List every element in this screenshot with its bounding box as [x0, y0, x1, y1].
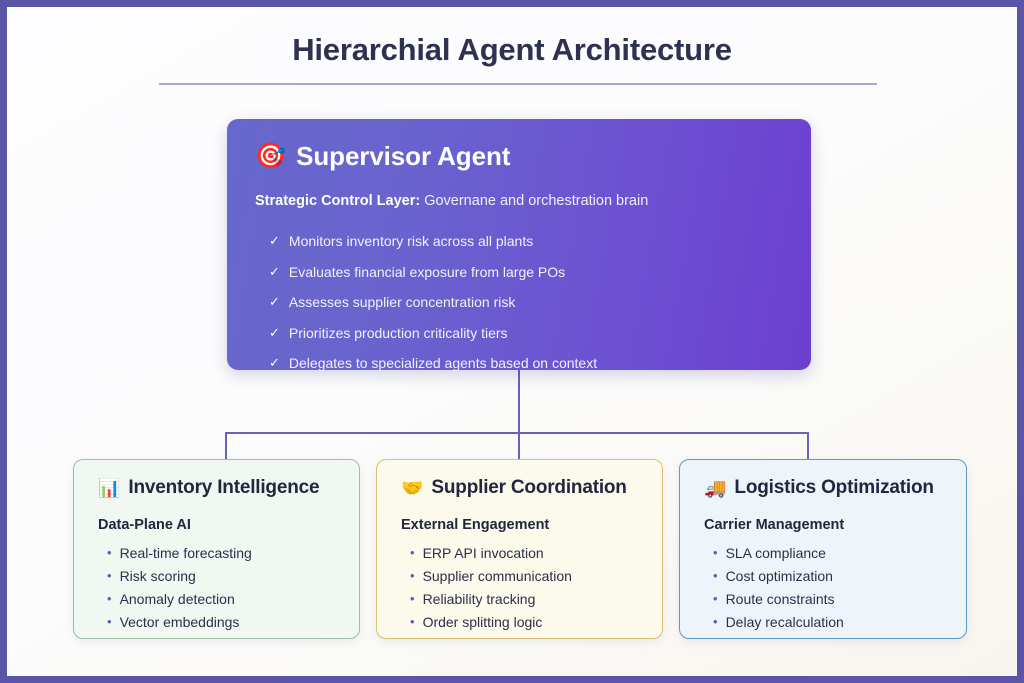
title-divider	[159, 83, 877, 85]
supervisor-subtitle-lead: Strategic Control Layer:	[255, 193, 420, 209]
bullet-dot-icon: •	[107, 567, 112, 584]
handshake-icon: 🤝	[401, 479, 423, 497]
bullet-dot-icon: •	[410, 544, 415, 561]
delivery-truck-icon: 🚚	[704, 479, 726, 497]
list-item-label: Delegates to specialized agents based on…	[289, 355, 597, 373]
list-item: • Order splitting logic	[401, 611, 642, 634]
diagram-frame: Hierarchial Agent Architecture 🎯 Supervi…	[0, 0, 1024, 683]
list-item: ✓ Assesses supplier concentration risk	[255, 288, 783, 319]
list-item: ✓ Monitors inventory risk across all pla…	[255, 227, 783, 258]
list-item: • Supplier communication	[401, 565, 642, 588]
supervisor-heading: 🎯 Supervisor Agent	[255, 141, 783, 172]
list-item: • Vector embeddings	[98, 611, 339, 634]
bullet-dot-icon: •	[410, 567, 415, 584]
list-item: • Anomaly detection	[98, 588, 339, 611]
card-subtitle: External Engagement	[401, 517, 642, 533]
bullet-dot-icon: •	[713, 544, 718, 561]
check-icon: ✓	[269, 233, 280, 249]
bullet-dot-icon: •	[107, 544, 112, 561]
check-icon: ✓	[269, 264, 280, 280]
bullet-dot-icon: •	[410, 613, 415, 630]
card-feature-list: • ERP API invocation • Supplier communic…	[401, 542, 642, 633]
card-title: Logistics Optimization	[734, 477, 933, 499]
list-item: • ERP API invocation	[401, 542, 642, 565]
list-item-label: SLA compliance	[726, 544, 826, 562]
list-item: • Risk scoring	[98, 565, 339, 588]
list-item-label: Route constraints	[726, 590, 835, 608]
inventory-intelligence-node[interactable]: 📊 Inventory Intelligence Data-Plane AI •…	[73, 459, 360, 639]
card-heading: 📊 Inventory Intelligence	[98, 477, 339, 499]
card-feature-list: • SLA compliance • Cost optimization • R…	[704, 542, 946, 633]
list-item: • Cost optimization	[704, 565, 946, 588]
list-item-label: Monitors inventory risk across all plant…	[289, 233, 533, 251]
card-heading: 🚚 Logistics Optimization	[704, 477, 946, 499]
list-item-label: Reliability tracking	[423, 590, 536, 608]
list-item: • Route constraints	[704, 588, 946, 611]
diagram-canvas: Hierarchial Agent Architecture 🎯 Supervi…	[7, 7, 1017, 676]
supervisor-capability-list: ✓ Monitors inventory risk across all pla…	[255, 227, 783, 380]
bar-chart-icon: 📊	[98, 479, 120, 497]
bullet-dot-icon: •	[713, 613, 718, 630]
card-title: Supplier Coordination	[431, 477, 626, 499]
list-item-label: Risk scoring	[120, 567, 196, 585]
list-item-label: Supplier communication	[423, 567, 572, 585]
logistics-optimization-node[interactable]: 🚚 Logistics Optimization Carrier Managem…	[679, 459, 967, 639]
card-subtitle: Carrier Management	[704, 517, 946, 533]
connector-drop-supplier	[518, 432, 520, 460]
bullet-dot-icon: •	[713, 590, 718, 607]
connector-drop-logistics	[807, 432, 809, 460]
bullet-dot-icon: •	[107, 590, 112, 607]
supplier-coordination-node[interactable]: 🤝 Supplier Coordination External Engagem…	[376, 459, 663, 639]
supervisor-agent-node[interactable]: 🎯 Supervisor Agent Strategic Control Lay…	[227, 119, 811, 370]
page-title: Hierarchial Agent Architecture	[7, 33, 1017, 67]
check-icon: ✓	[269, 294, 280, 310]
list-item-label: ERP API invocation	[423, 544, 544, 562]
bullet-dot-icon: •	[713, 567, 718, 584]
connector-trunk-vertical	[518, 370, 520, 433]
list-item-label: Vector embeddings	[120, 613, 240, 631]
check-icon: ✓	[269, 355, 280, 371]
connector-horizontal-bus	[225, 432, 809, 434]
bullet-dot-icon: •	[410, 590, 415, 607]
card-title: Inventory Intelligence	[128, 477, 319, 499]
list-item: ✓ Delegates to specialized agents based …	[255, 349, 783, 380]
list-item-label: Prioritizes production criticality tiers	[289, 325, 508, 343]
connector-drop-inventory	[225, 432, 227, 460]
supervisor-subtitle-rest: Governane and orchestration brain	[420, 193, 648, 209]
card-heading: 🤝 Supplier Coordination	[401, 477, 642, 499]
list-item-label: Evaluates financial exposure from large …	[289, 264, 565, 282]
bullet-dot-icon: •	[107, 613, 112, 630]
supervisor-title: Supervisor Agent	[296, 141, 510, 172]
list-item: • Delay recalculation	[704, 611, 946, 634]
list-item-label: Assesses supplier concentration risk	[289, 294, 515, 312]
list-item: ✓ Evaluates financial exposure from larg…	[255, 257, 783, 288]
list-item-label: Delay recalculation	[726, 613, 844, 631]
list-item-label: Order splitting logic	[423, 613, 543, 631]
list-item: ✓ Prioritizes production criticality tie…	[255, 318, 783, 349]
card-subtitle: Data-Plane AI	[98, 517, 339, 533]
list-item-label: Cost optimization	[726, 567, 833, 585]
list-item: • Reliability tracking	[401, 588, 642, 611]
title-block: Hierarchial Agent Architecture	[7, 33, 1017, 67]
list-item-label: Anomaly detection	[120, 590, 235, 608]
direct-hit-target-icon: 🎯	[255, 144, 286, 169]
list-item: • Real-time forecasting	[98, 542, 339, 565]
card-feature-list: • Real-time forecasting • Risk scoring •…	[98, 542, 339, 633]
list-item: • SLA compliance	[704, 542, 946, 565]
list-item-label: Real-time forecasting	[120, 544, 252, 562]
check-icon: ✓	[269, 325, 280, 341]
supervisor-subtitle: Strategic Control Layer: Governane and o…	[255, 192, 783, 211]
